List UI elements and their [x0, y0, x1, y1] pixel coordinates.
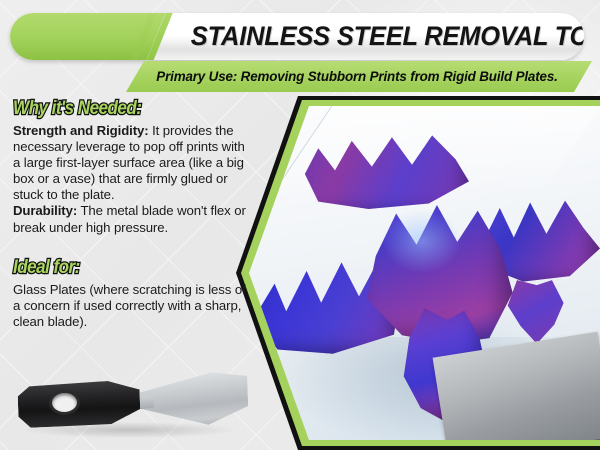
text-glass-plates: Glass Plates (where scratching is less o… [13, 282, 246, 329]
lead-strength-rigidity: Strength and Rigidity: [13, 123, 149, 138]
header-bar: STAINLESS STEEL REMOVAL TOOL [10, 13, 584, 60]
subtitle-text: Primary Use: Removing Stubborn Prints fr… [126, 61, 592, 92]
tool-black-handle [17, 380, 140, 428]
section-heading-ideal: Ideal for: [13, 257, 229, 279]
subtitle-banner: Primary Use: Removing Stubborn Prints fr… [126, 61, 592, 92]
header-green-cap [10, 13, 130, 60]
content-column: Why it's Needed: Strength and Rigidity: … [13, 98, 253, 330]
section-why-its-needed: Why it's Needed: Strength and Rigidity: … [13, 98, 253, 236]
section-heading-why: Why it's Needed: [13, 98, 229, 120]
section-ideal-for: Ideal for: Glass Plates (where scratchin… [13, 257, 253, 330]
page-title: STAINLESS STEEL REMOVAL TOOL [191, 13, 570, 60]
paragraph-durability: Durability: The metal blade won't flex o… [13, 203, 253, 235]
dragon-tail [302, 124, 469, 216]
lead-durability: Durability: [13, 203, 77, 218]
dragon-leg [505, 280, 563, 344]
scraper-tool-illustration [18, 370, 298, 442]
paragraph-glass-plates: Glass Plates (where scratching is less o… [13, 282, 253, 330]
paragraph-strength-rigidity: Strength and Rigidity: It provides the n… [13, 123, 253, 203]
product-infographic: STAINLESS STEEL REMOVAL TOOL Primary Use… [0, 0, 600, 450]
dragon-highlight [382, 209, 462, 273]
